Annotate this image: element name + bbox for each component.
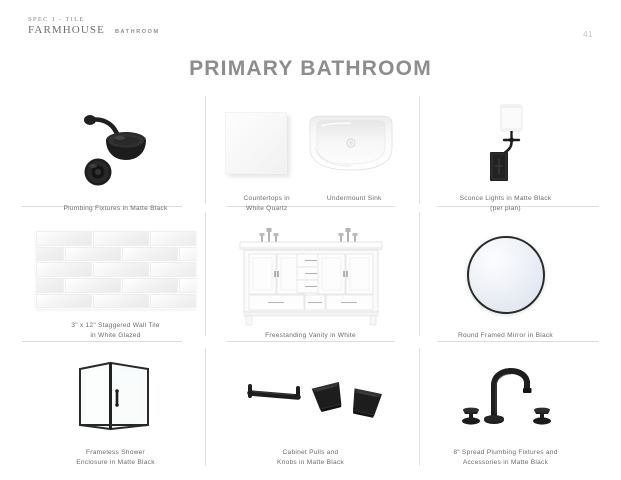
subway-tile-icon <box>36 231 196 309</box>
caption-hardware-line2: Knobs in Matte Black <box>277 459 344 466</box>
double-vanity-icon <box>236 223 386 327</box>
cell-sconce-lights[interactable]: Sconce Lights in Matte Black (per plan) <box>408 92 603 219</box>
round-mirror-icon <box>467 236 545 314</box>
caption-cabinet-hardware: Cabinet Pulls and Knobs in Matte Black <box>219 448 402 472</box>
tile-row <box>36 246 196 262</box>
cell-plumbing-fixtures[interactable]: Plumbing Fixtures in Matte Black <box>18 92 213 219</box>
media-sconce-lights <box>414 92 597 194</box>
cell-round-mirror[interactable]: Round Framed Mirror in Black <box>408 219 603 346</box>
shower-head-icon <box>68 108 164 188</box>
tile-row <box>36 293 196 309</box>
tile-row <box>36 231 196 247</box>
media-spread-faucet <box>414 345 597 447</box>
page-number: 41 <box>583 30 593 39</box>
spec-label: SPEC 1 - TILE <box>28 16 105 23</box>
wall-sconce-icon <box>479 102 533 184</box>
quartz-slab-icon <box>225 112 287 174</box>
tile-row <box>36 278 196 294</box>
media-countertops-and-sink <box>219 92 402 194</box>
caption-hardware-line1: Cabinet Pulls and <box>283 449 339 456</box>
caption-sconce-line1: Sconce Lights in Matte Black <box>460 195 552 202</box>
caption-plumbing-fixtures: Plumbing Fixtures in Matte Black <box>24 204 207 218</box>
cell-countertops-and-sink[interactable]: Countertops in White Quartz Undermount S… <box>213 92 408 219</box>
glass-shower-door-icon <box>70 355 162 437</box>
caption-shower-enclosure: Frameless Shower Enclosure in Matte Blac… <box>24 448 207 472</box>
cell-cabinet-hardware[interactable]: Cabinet Pulls and Knobs in Matte Black <box>213 345 408 472</box>
media-wall-tile <box>24 219 207 321</box>
cell-shower-enclosure[interactable]: Frameless Shower Enclosure in Matte Blac… <box>18 345 213 472</box>
page-title: PRIMARY BATHROOM <box>0 57 621 81</box>
caption-enclosure-line2: Enclosure in Matte Black <box>76 459 155 466</box>
caption-undermount-sink: Undermount Sink <box>311 194 399 214</box>
cell-wall-tile[interactable]: 3" x 12" Staggered Wall Tile in White Gl… <box>18 219 213 346</box>
brand-name: FARMHOUSE <box>28 24 105 36</box>
caption-faucet-line1: 8" Spread Plumbing Fixtures and <box>453 449 557 456</box>
media-freestanding-vanity <box>219 219 402 331</box>
caption-spread-faucet: 8" Spread Plumbing Fixtures and Accessor… <box>414 448 597 472</box>
caption-freestanding-vanity: Freestanding Vanity in White <box>219 331 402 345</box>
caption-round-mirror: Round Framed Mirror in Black <box>414 331 597 345</box>
tile-row <box>36 262 196 278</box>
media-round-mirror <box>414 219 597 331</box>
spec-sheet-page: SPEC 1 - TILE FARMHOUSE BATHROOM 41 PRIM… <box>0 0 621 480</box>
cell-freestanding-vanity[interactable]: Freestanding Vanity in White <box>213 219 408 346</box>
caption-enclosure-line1: Frameless Shower <box>86 449 145 456</box>
media-cabinet-hardware <box>219 345 402 447</box>
cabinet-pull-icon <box>236 366 386 426</box>
caption-wall-tile-line1: 3" x 12" Staggered Wall Tile <box>71 322 159 329</box>
cell-spread-faucet[interactable]: 8" Spread Plumbing Fixtures and Accessor… <box>408 345 603 472</box>
media-plumbing-fixtures <box>24 92 207 204</box>
caption-pair-countertops-sink: Countertops in White Quartz Undermount S… <box>219 194 402 218</box>
product-grid: Plumbing Fixtures in Matte Black <box>18 92 603 472</box>
document-header: SPEC 1 - TILE FARMHOUSE BATHROOM <box>28 16 160 36</box>
widespread-faucet-icon <box>458 363 554 429</box>
caption-sconce-line2: (per plan) <box>490 205 521 212</box>
brand-block: SPEC 1 - TILE FARMHOUSE <box>28 16 105 36</box>
undermount-sink-icon <box>305 114 397 172</box>
caption-faucet-line2: Accessories in Matte Black <box>463 459 548 466</box>
media-shower-enclosure <box>24 345 207 447</box>
caption-countertops-line1: Countertops in <box>244 195 290 202</box>
caption-countertops: Countertops in White Quartz <box>223 194 311 214</box>
caption-wall-tile: 3" x 12" Staggered Wall Tile in White Gl… <box>24 321 207 345</box>
caption-sconce-lights: Sconce Lights in Matte Black (per plan) <box>414 194 597 218</box>
caption-wall-tile-line2: in White Glazed <box>90 332 140 339</box>
section-label: BATHROOM <box>115 29 160 36</box>
caption-countertops-line2: White Quartz <box>246 205 287 212</box>
